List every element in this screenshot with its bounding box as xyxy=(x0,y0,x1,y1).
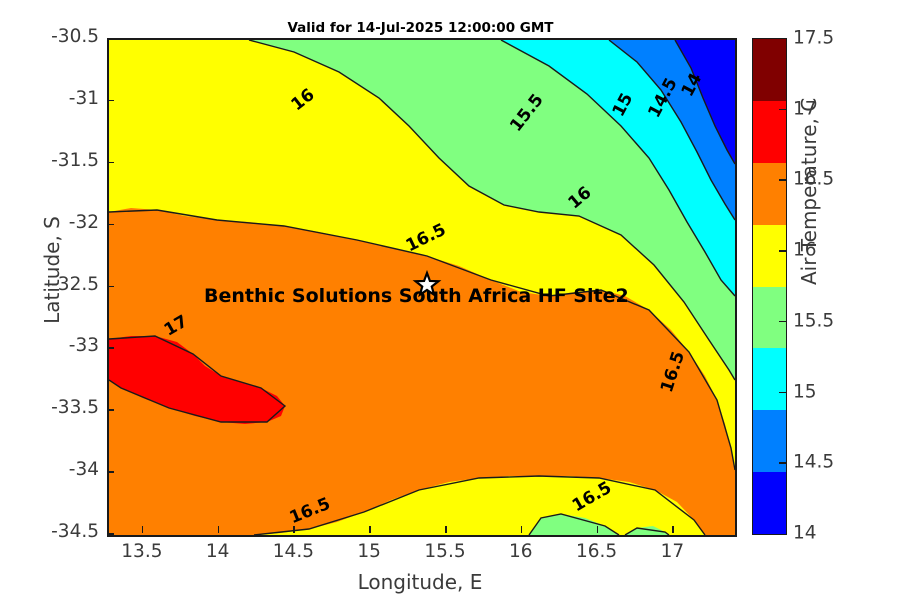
colorbar-tick-mark xyxy=(779,321,786,323)
colorbar-tick-label: 17.5 xyxy=(793,28,834,49)
y-tick-mark xyxy=(107,100,114,102)
colorbar-tick-label: 14.5 xyxy=(793,452,834,473)
colorbar-axis-label: Air Temperature, C xyxy=(797,98,821,285)
x-tick-mark xyxy=(521,526,523,533)
x-tick-mark xyxy=(293,526,295,533)
x-tick-mark xyxy=(142,526,144,533)
colorbar-tick-mark xyxy=(779,462,786,464)
colorbar-tick-mark xyxy=(779,250,786,252)
y-tick-mark xyxy=(107,286,114,288)
x-tick-mark xyxy=(369,526,371,533)
colorbar-tick-mark xyxy=(779,179,786,181)
contour-map-figure: Valid for 14-Jul-2025 12:00:00 GMT xyxy=(0,0,900,600)
colorbar-tick-mark xyxy=(779,392,786,394)
colorbar-tick-label: 15 xyxy=(793,381,817,402)
x-tick-mark xyxy=(445,526,447,533)
y-tick-mark xyxy=(107,224,114,226)
colorbar-tick-mark xyxy=(779,109,786,111)
colorbar-ticks: 17.51716.51615.51514.514 xyxy=(0,0,900,600)
y-tick-mark xyxy=(107,409,114,411)
x-tick-mark xyxy=(597,526,599,533)
colorbar-tick-label: 15.5 xyxy=(793,310,834,331)
y-tick-mark xyxy=(107,162,114,164)
y-tick-mark xyxy=(107,471,114,473)
x-tick-mark xyxy=(218,526,220,533)
x-tick-mark xyxy=(672,526,674,533)
y-tick-mark xyxy=(107,347,114,349)
y-tick-mark xyxy=(107,533,114,535)
colorbar-tick-label: 14 xyxy=(793,523,817,544)
